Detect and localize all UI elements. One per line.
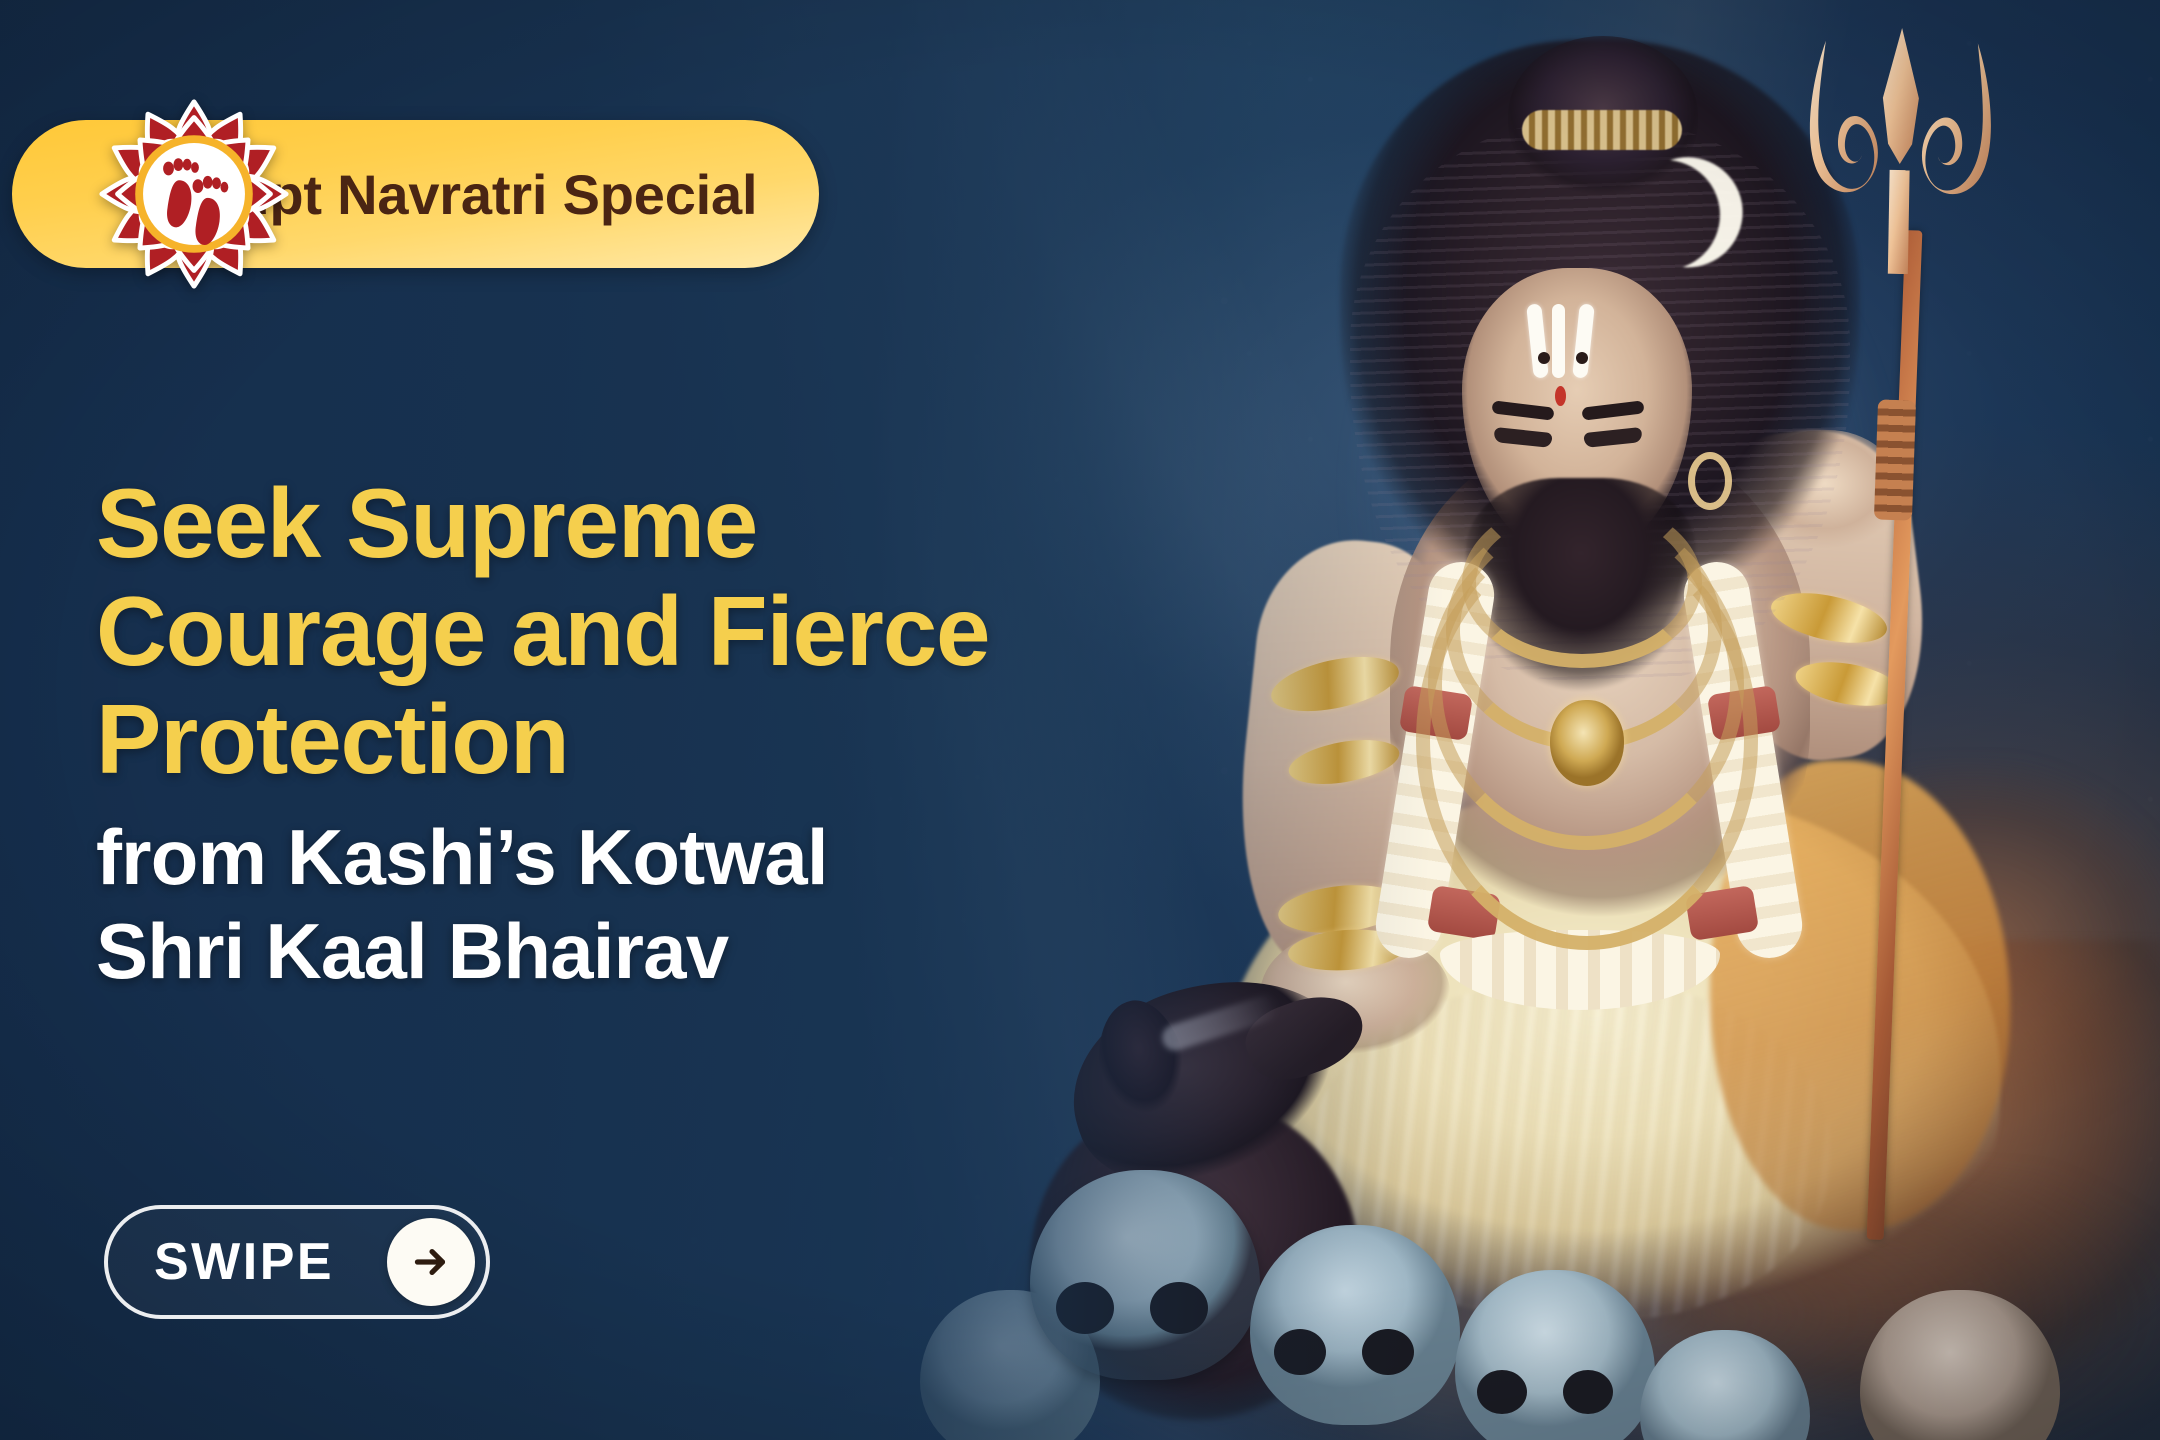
arrow-right-icon[interactable] — [387, 1218, 475, 1306]
headline-line-1: Seek Supreme — [96, 470, 1116, 578]
lotus-footprints-logo-icon[interactable] — [96, 96, 292, 292]
subheadline-block: from Kashi’s Kotwal Shri Kaal Bhairav — [96, 811, 1116, 998]
subheadline-line-2: Shri Kaal Bhairav — [96, 905, 1116, 999]
promo-banner: Gupt Navratri Special — [0, 0, 2160, 1440]
headline-line-2: Courage and Fierce — [96, 578, 1116, 686]
swipe-label: SWIPE — [154, 1232, 334, 1292]
swipe-button[interactable]: SWIPE — [104, 1205, 490, 1319]
badge-row: Gupt Navratri Special — [96, 120, 819, 268]
subheadline-line-1: from Kashi’s Kotwal — [96, 811, 1116, 905]
headline-block: Seek Supreme Courage and Fierce Protecti… — [96, 470, 1116, 999]
headline-line-3: Protection — [96, 686, 1116, 794]
content-layer: Gupt Navratri Special — [0, 0, 2160, 1440]
